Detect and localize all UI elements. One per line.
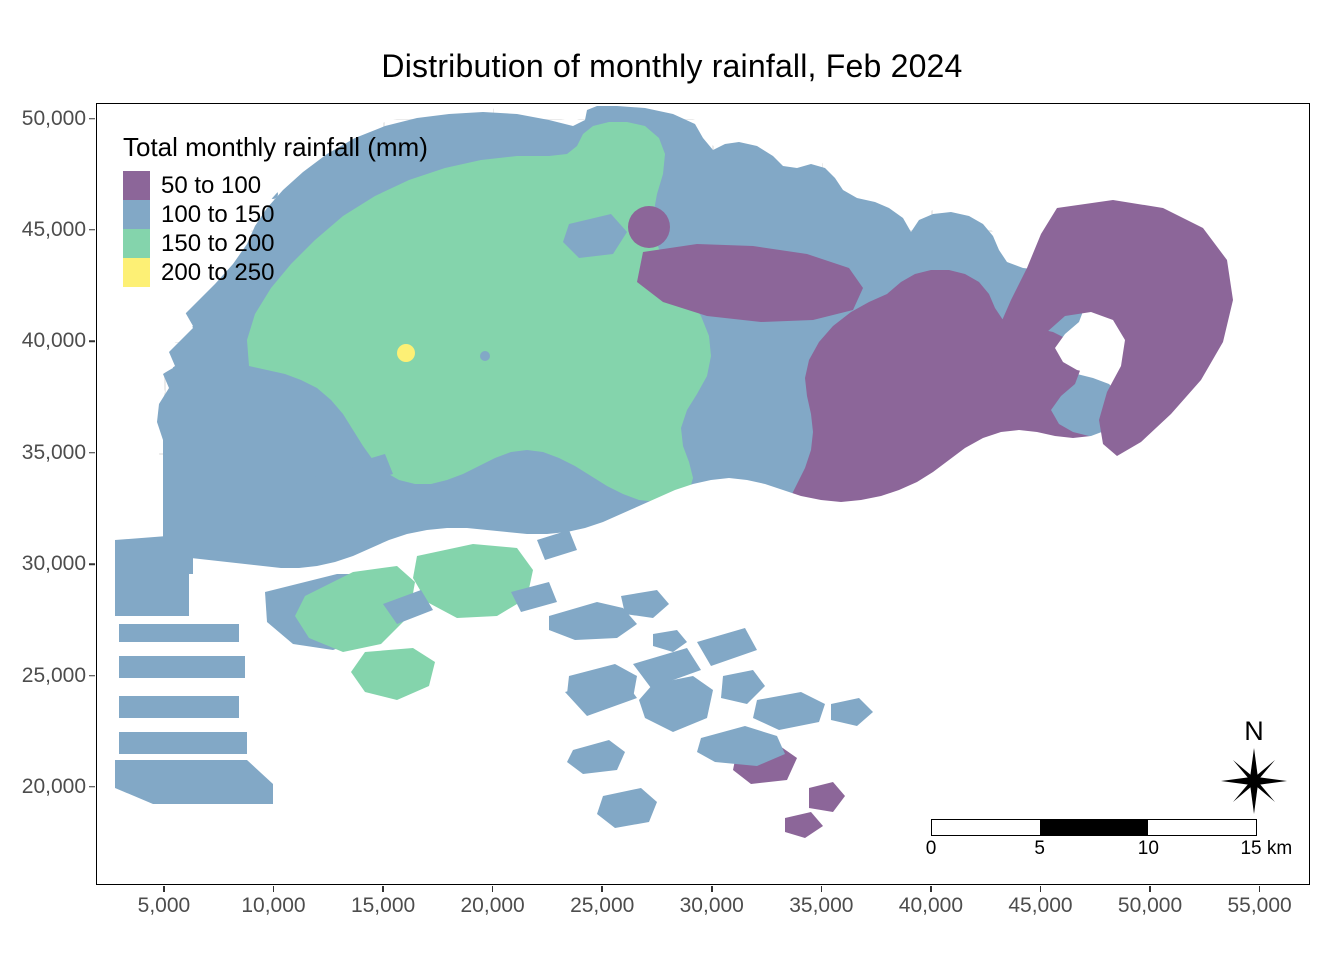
tuas-south-block (115, 760, 273, 804)
y-axis-tick-mark (89, 229, 95, 231)
page-title: Distribution of monthly rainfall, Feb 20… (0, 48, 1344, 85)
legend-item-label: 200 to 250 (161, 261, 274, 285)
y-axis-tick-mark (89, 786, 95, 788)
map-panel[interactable]: Total monthly rainfall (mm) 50 to 100100… (96, 103, 1310, 885)
y-axis-tick-mark (89, 452, 95, 454)
legend-title: Total monthly rainfall (mm) (123, 132, 428, 163)
x-axis-tick-label: 45,000 (1008, 894, 1072, 918)
tuas-finger-3 (119, 696, 239, 718)
compass-north-label: N (1219, 716, 1289, 747)
x-axis-tick-label: 15,000 (351, 894, 415, 918)
scale-bar-tick-label: 10 (1138, 838, 1159, 860)
legend-item-label: 50 to 100 (161, 174, 261, 198)
scale-bar-segment-2 (1148, 820, 1256, 835)
y-axis-tick-mark (89, 675, 95, 677)
x-axis-tick-label: 40,000 (899, 894, 963, 918)
scale-bar-tick-label: 15 km (1240, 838, 1292, 860)
x-axis-tick-label: 5,000 (138, 894, 191, 918)
legend-swatch-icon (123, 229, 150, 258)
x-axis-tick-mark (601, 886, 603, 892)
legend-item-label: 100 to 150 (161, 203, 274, 227)
compass-rose-icon (1219, 746, 1289, 816)
scale-bar-tick-label: 0 (926, 838, 937, 860)
y-axis-tick-mark (89, 341, 95, 343)
rainfall-point-max-yellow (397, 344, 415, 362)
scale-bar-segment-0 (932, 820, 1040, 835)
rainfall-map-figure: Distribution of monthly rainfall, Feb 20… (0, 0, 1344, 960)
x-axis-tick-mark (1149, 886, 1151, 892)
x-axis-tick-label: 25,000 (570, 894, 634, 918)
x-axis-tick-mark (492, 886, 494, 892)
x-axis-tick-label: 55,000 (1227, 894, 1291, 918)
scale-bar-track (931, 819, 1257, 836)
y-axis-tick-label: 50,000 (22, 107, 86, 131)
scale-bar-tick-label: 5 (1034, 838, 1045, 860)
y-axis-tick-label: 25,000 (22, 664, 86, 688)
compass-rose: N (1219, 716, 1289, 816)
x-axis-tick-mark (382, 886, 384, 892)
legend-item[interactable]: 100 to 150 (123, 200, 428, 229)
legend-item-label: 150 to 200 (161, 232, 274, 256)
west-coast-strip (115, 534, 193, 574)
x-axis-tick-label: 30,000 (680, 894, 744, 918)
legend-swatch-icon (123, 200, 150, 229)
tuas-finger-2 (119, 656, 245, 678)
legend-items: 50 to 100100 to 150150 to 200200 to 250 (123, 171, 428, 287)
legend-item[interactable]: 150 to 200 (123, 229, 428, 258)
tuas-block (115, 574, 189, 616)
x-axis-tick-label: 10,000 (241, 894, 305, 918)
x-axis-tick-label: 35,000 (789, 894, 853, 918)
y-axis-tick-label: 40,000 (22, 329, 86, 353)
y-axis-tick-label: 35,000 (22, 441, 86, 465)
x-axis-tick-mark (711, 886, 713, 892)
scale-bar-segment-1 (1040, 820, 1148, 835)
legend-item[interactable]: 200 to 250 (123, 258, 428, 287)
scale-bar-labels: 051015 km (931, 838, 1257, 860)
x-axis-tick-mark (1259, 886, 1261, 892)
tuas-finger-1 (119, 624, 239, 642)
x-axis-tick-mark (930, 886, 932, 892)
y-axis-tick-label: 45,000 (22, 218, 86, 242)
x-axis-tick-label: 20,000 (461, 894, 525, 918)
legend: Total monthly rainfall (mm) 50 to 100100… (123, 132, 428, 287)
legend-swatch-icon (123, 258, 150, 287)
x-axis-tick-mark (163, 886, 165, 892)
y-axis-tick-label: 20,000 (22, 775, 86, 799)
x-axis-tick-mark (1040, 886, 1042, 892)
legend-swatch-icon (123, 171, 150, 200)
scale-bar: 051015 km (931, 819, 1257, 860)
y-axis-tick-mark (89, 118, 95, 120)
x-axis-tick-label: 50,000 (1118, 894, 1182, 918)
x-axis-tick-mark (273, 886, 275, 892)
legend-item[interactable]: 50 to 100 (123, 171, 428, 200)
rainfall-point-north (628, 206, 670, 248)
y-axis-tick-label: 30,000 (22, 552, 86, 576)
y-axis-tick-mark (89, 563, 95, 565)
rainfall-point-central (480, 351, 490, 361)
x-axis-tick-mark (821, 886, 823, 892)
tuas-finger-4 (119, 732, 247, 754)
